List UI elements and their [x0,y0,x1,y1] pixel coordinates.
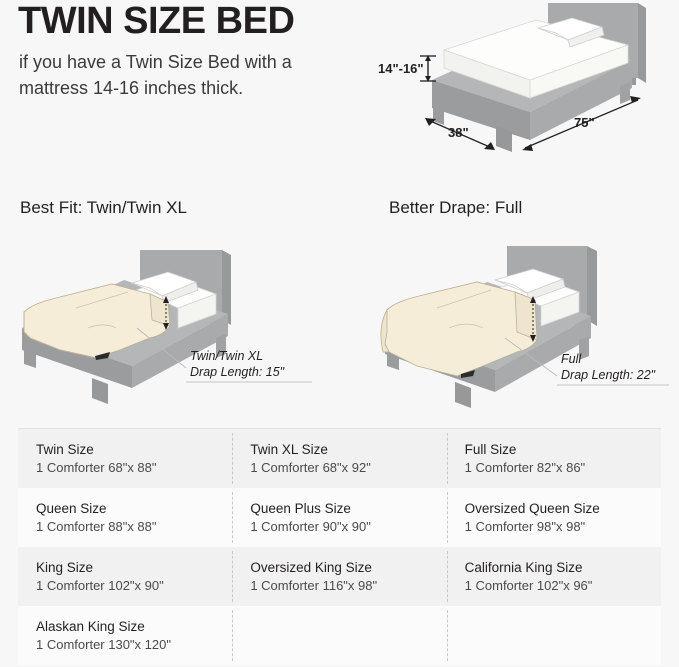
drape-annotation-line1: Twin/Twin XL [190,349,263,363]
table-cell: California King Size 1 Comforter 102"x 9… [447,547,661,606]
size-spec: 1 Comforter 90"x 90" [250,518,446,537]
section-heading-best-fit: Best Fit: Twin/Twin XL [20,198,187,218]
table-row: Alaskan King Size 1 Comforter 130"x 120" [18,606,661,665]
size-name: Alaskan King Size [36,617,232,636]
size-spec: 1 Comforter 102"x 90" [36,577,232,596]
size-spec: 1 Comforter 82"x 86" [465,459,661,478]
table-cell [447,606,661,665]
table-cell: Queen Size 1 Comforter 88"x 88" [18,488,232,547]
drape-annotation-line1: Full [561,352,582,366]
size-name: Twin Size [36,440,232,459]
comforter-size-table: Twin Size 1 Comforter 68"x 88" Twin XL S… [18,428,661,664]
table-cell: Twin Size 1 Comforter 68"x 88" [18,429,232,488]
table-cell [232,606,446,665]
size-spec: 1 Comforter 130"x 120" [36,636,232,655]
size-spec: 1 Comforter 68"x 88" [36,459,232,478]
size-name: Oversized King Size [250,558,446,577]
size-name: Queen Size [36,499,232,518]
table-cell: Alaskan King Size 1 Comforter 130"x 120" [18,606,232,665]
infographic-page: TWIN SIZE BED if you have a Twin Size Be… [0,0,679,667]
table-row: Twin Size 1 Comforter 68"x 88" Twin XL S… [18,429,661,488]
bed-illustration-full: Full Drap Length: 22" [339,228,679,413]
size-name: Oversized Queen Size [465,499,661,518]
table-cell: Full Size 1 Comforter 82"x 86" [447,429,661,488]
table-row: Queen Size 1 Comforter 88"x 88" Queen Pl… [18,488,661,547]
table-cell: Twin XL Size 1 Comforter 68"x 92" [232,429,446,488]
size-name: King Size [36,558,232,577]
bed-width-label: 38" [448,125,469,140]
size-name: California King Size [465,558,661,577]
section-heading-better-drape: Better Drape: Full [389,198,522,218]
drape-annotation-line2: Drap Length: 22" [561,368,656,382]
size-spec: 1 Comforter 88"x 88" [36,518,232,537]
bed-length-label: 75" [574,115,595,130]
table-cell: Oversized Queen Size 1 Comforter 98"x 98… [447,488,661,547]
size-spec: 1 Comforter 116"x 98" [250,577,446,596]
size-spec: 1 Comforter 102"x 96" [465,577,661,596]
bed-height-label: 14"-16" [378,61,424,76]
size-name: Queen Plus Size [250,499,446,518]
table-row: King Size 1 Comforter 102"x 90" Oversize… [18,547,661,606]
drape-annotation-line2: Drap Length: 15" [190,365,285,379]
bed-illustration-twin: Twin/Twin XL Drap Length: 15" [0,228,340,413]
table-cell: Oversized King Size 1 Comforter 116"x 98… [232,547,446,606]
size-name: Full Size [465,440,661,459]
size-spec: 1 Comforter 98"x 98" [465,518,661,537]
page-subtitle: if you have a Twin Size Bed with a mattr… [19,50,319,101]
header-section: TWIN SIZE BED if you have a Twin Size Be… [0,0,679,185]
page-title: TWIN SIZE BED [18,2,294,42]
size-name: Twin XL Size [250,440,446,459]
table-cell: Queen Plus Size 1 Comforter 90"x 90" [232,488,446,547]
twin-bed-dimensions-diagram: 14"-16" 38" 75" [340,0,679,180]
table-cell: King Size 1 Comforter 102"x 90" [18,547,232,606]
size-spec: 1 Comforter 68"x 92" [250,459,446,478]
